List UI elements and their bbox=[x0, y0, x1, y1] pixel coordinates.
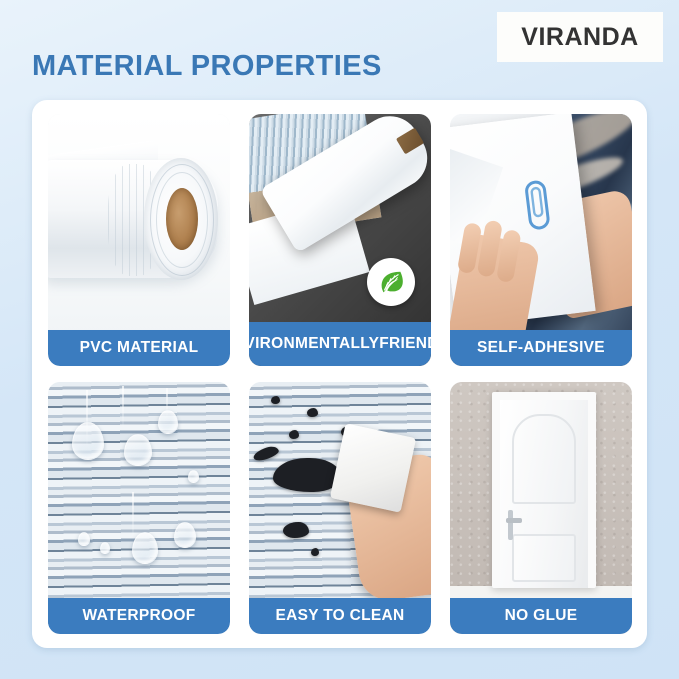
stain-smear bbox=[273, 458, 341, 492]
door-frame bbox=[492, 392, 596, 588]
water-droplet bbox=[72, 422, 104, 460]
stain bbox=[289, 430, 299, 439]
stain bbox=[311, 548, 319, 556]
door-panel-top bbox=[512, 414, 576, 504]
pvc-roll-image bbox=[48, 114, 230, 366]
feature-label-pvc-material: PVC MATERIAL bbox=[48, 330, 230, 366]
stain bbox=[307, 408, 318, 417]
feature-label-environmentally-friendly: ENVIRONMENTALLYFRIENDLY bbox=[249, 322, 431, 366]
water-droplet bbox=[188, 470, 199, 483]
waterproof-image bbox=[48, 382, 230, 634]
leaf-icon bbox=[367, 258, 415, 306]
water-droplet bbox=[158, 410, 178, 434]
feature-label-waterproof: WATERPROOF bbox=[48, 598, 230, 634]
droplet-trail bbox=[122, 386, 124, 430]
water-droplet bbox=[174, 522, 196, 548]
door-handle bbox=[506, 518, 522, 523]
self-adhesive-image bbox=[450, 114, 632, 366]
feature-tile-self-adhesive[interactable]: SELF-ADHESIVE bbox=[450, 114, 632, 366]
feature-tile-waterproof[interactable]: WATERPROOF bbox=[48, 382, 230, 634]
water-droplet bbox=[100, 542, 110, 554]
features-card: PVC MATERIAL bbox=[32, 100, 647, 648]
no-glue-image bbox=[450, 382, 632, 634]
door-leaf bbox=[500, 400, 588, 588]
feature-tile-easy-to-clean[interactable]: EASY TO CLEAN bbox=[249, 382, 431, 634]
label-line: FRIENDLY bbox=[379, 335, 431, 352]
feature-label-easy-to-clean: EASY TO CLEAN bbox=[249, 598, 431, 634]
brand-name: VIRANDA bbox=[521, 23, 638, 52]
stain bbox=[252, 444, 280, 462]
easy-to-clean-image bbox=[249, 382, 431, 634]
water-droplet bbox=[132, 532, 158, 564]
stain bbox=[283, 522, 309, 538]
droplet-trail bbox=[132, 492, 134, 540]
page-title: MATERIAL PROPERTIES bbox=[32, 50, 382, 83]
roll-cardboard-core bbox=[166, 188, 198, 250]
water-droplet bbox=[124, 434, 152, 466]
infographic-page: VIRANDA MATERIAL PROPERTIES PVC MATERIAL bbox=[0, 0, 679, 679]
feature-tile-no-glue[interactable]: NO GLUE bbox=[450, 382, 632, 634]
water-droplet bbox=[78, 532, 90, 546]
feature-tile-pvc-material[interactable]: PVC MATERIAL bbox=[48, 114, 230, 366]
features-grid: PVC MATERIAL bbox=[48, 114, 632, 634]
feature-label-no-glue: NO GLUE bbox=[450, 598, 632, 634]
paperclip-icon bbox=[521, 178, 554, 238]
feature-tile-environmentally-friendly[interactable]: ENVIRONMENTALLYFRIENDLY bbox=[249, 114, 431, 366]
door-panel-bottom bbox=[512, 534, 576, 582]
label-line: ENVIRONMENTALLY bbox=[249, 335, 379, 352]
stain bbox=[271, 396, 280, 404]
door-handle-plate bbox=[508, 510, 513, 540]
feature-label-self-adhesive: SELF-ADHESIVE bbox=[450, 330, 632, 366]
brand-badge: VIRANDA bbox=[497, 12, 663, 62]
